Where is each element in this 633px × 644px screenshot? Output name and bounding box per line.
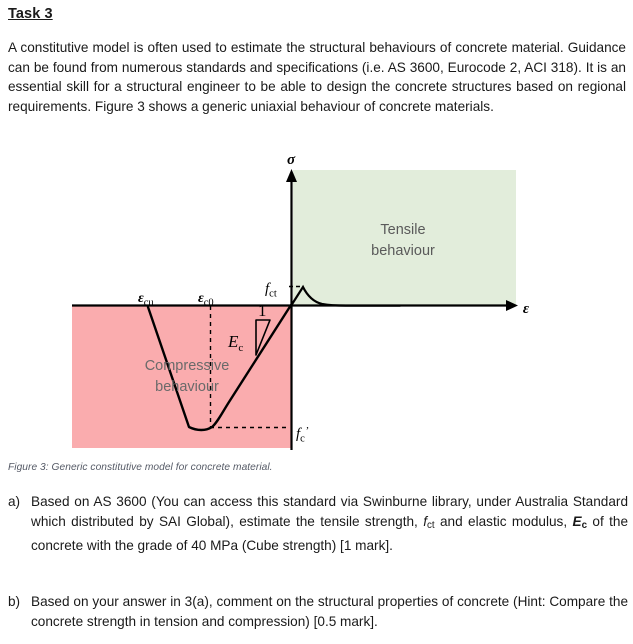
question-a-body: Based on AS 3600 (You can access this st… bbox=[31, 492, 628, 556]
compressive-region-label-line1: Compressive bbox=[145, 358, 230, 374]
figure-3-constitutive-model: σ ε εcu εc0 fct fc’ Ec 1 Tensile behavio… bbox=[0, 155, 633, 460]
tensile-region-label-line2: behaviour bbox=[371, 243, 435, 259]
y-axis-label-sigma: σ bbox=[287, 155, 296, 168]
intro-paragraph: A constitutive model is often used to es… bbox=[8, 38, 626, 116]
question-b-body: Based on your answer in 3(a), comment on… bbox=[31, 592, 628, 632]
x-axis-label-epsilon: ε bbox=[523, 301, 530, 317]
question-a-symbol-ec-base: E bbox=[572, 514, 581, 529]
annotation-epsilon-cu: εcu bbox=[138, 291, 154, 309]
tensile-region-fill bbox=[293, 170, 516, 306]
question-b: b) Based on your answer in 3(a), comment… bbox=[8, 592, 628, 632]
annotation-epsilon-c0: εc0 bbox=[198, 291, 214, 309]
question-a: a) Based on AS 3600 (You can access this… bbox=[8, 492, 628, 556]
compressive-region-fill bbox=[72, 306, 291, 448]
constitutive-model-svg: σ ε εcu εc0 fct fc’ Ec 1 Tensile behavio… bbox=[0, 155, 633, 460]
question-a-symbol-fct-sub: ct bbox=[427, 520, 435, 531]
annotation-f-ct: fct bbox=[265, 281, 277, 300]
annotation-slope-unit-one: 1 bbox=[258, 301, 267, 320]
question-a-text-2: and elastic modulus, bbox=[435, 514, 573, 529]
annotation-f-c-prime: fc’ bbox=[296, 425, 309, 445]
compressive-region-label-line2: behaviour bbox=[155, 379, 219, 395]
question-b-marker: b) bbox=[8, 592, 31, 612]
question-a-marker: a) bbox=[8, 492, 31, 512]
figure-caption: Figure 3: Generic constitutive model for… bbox=[8, 462, 273, 473]
document-page: Task 3 A constitutive model is often use… bbox=[0, 0, 633, 644]
page-title: Task 3 bbox=[8, 6, 53, 22]
tensile-region-label-line1: Tensile bbox=[380, 222, 425, 238]
